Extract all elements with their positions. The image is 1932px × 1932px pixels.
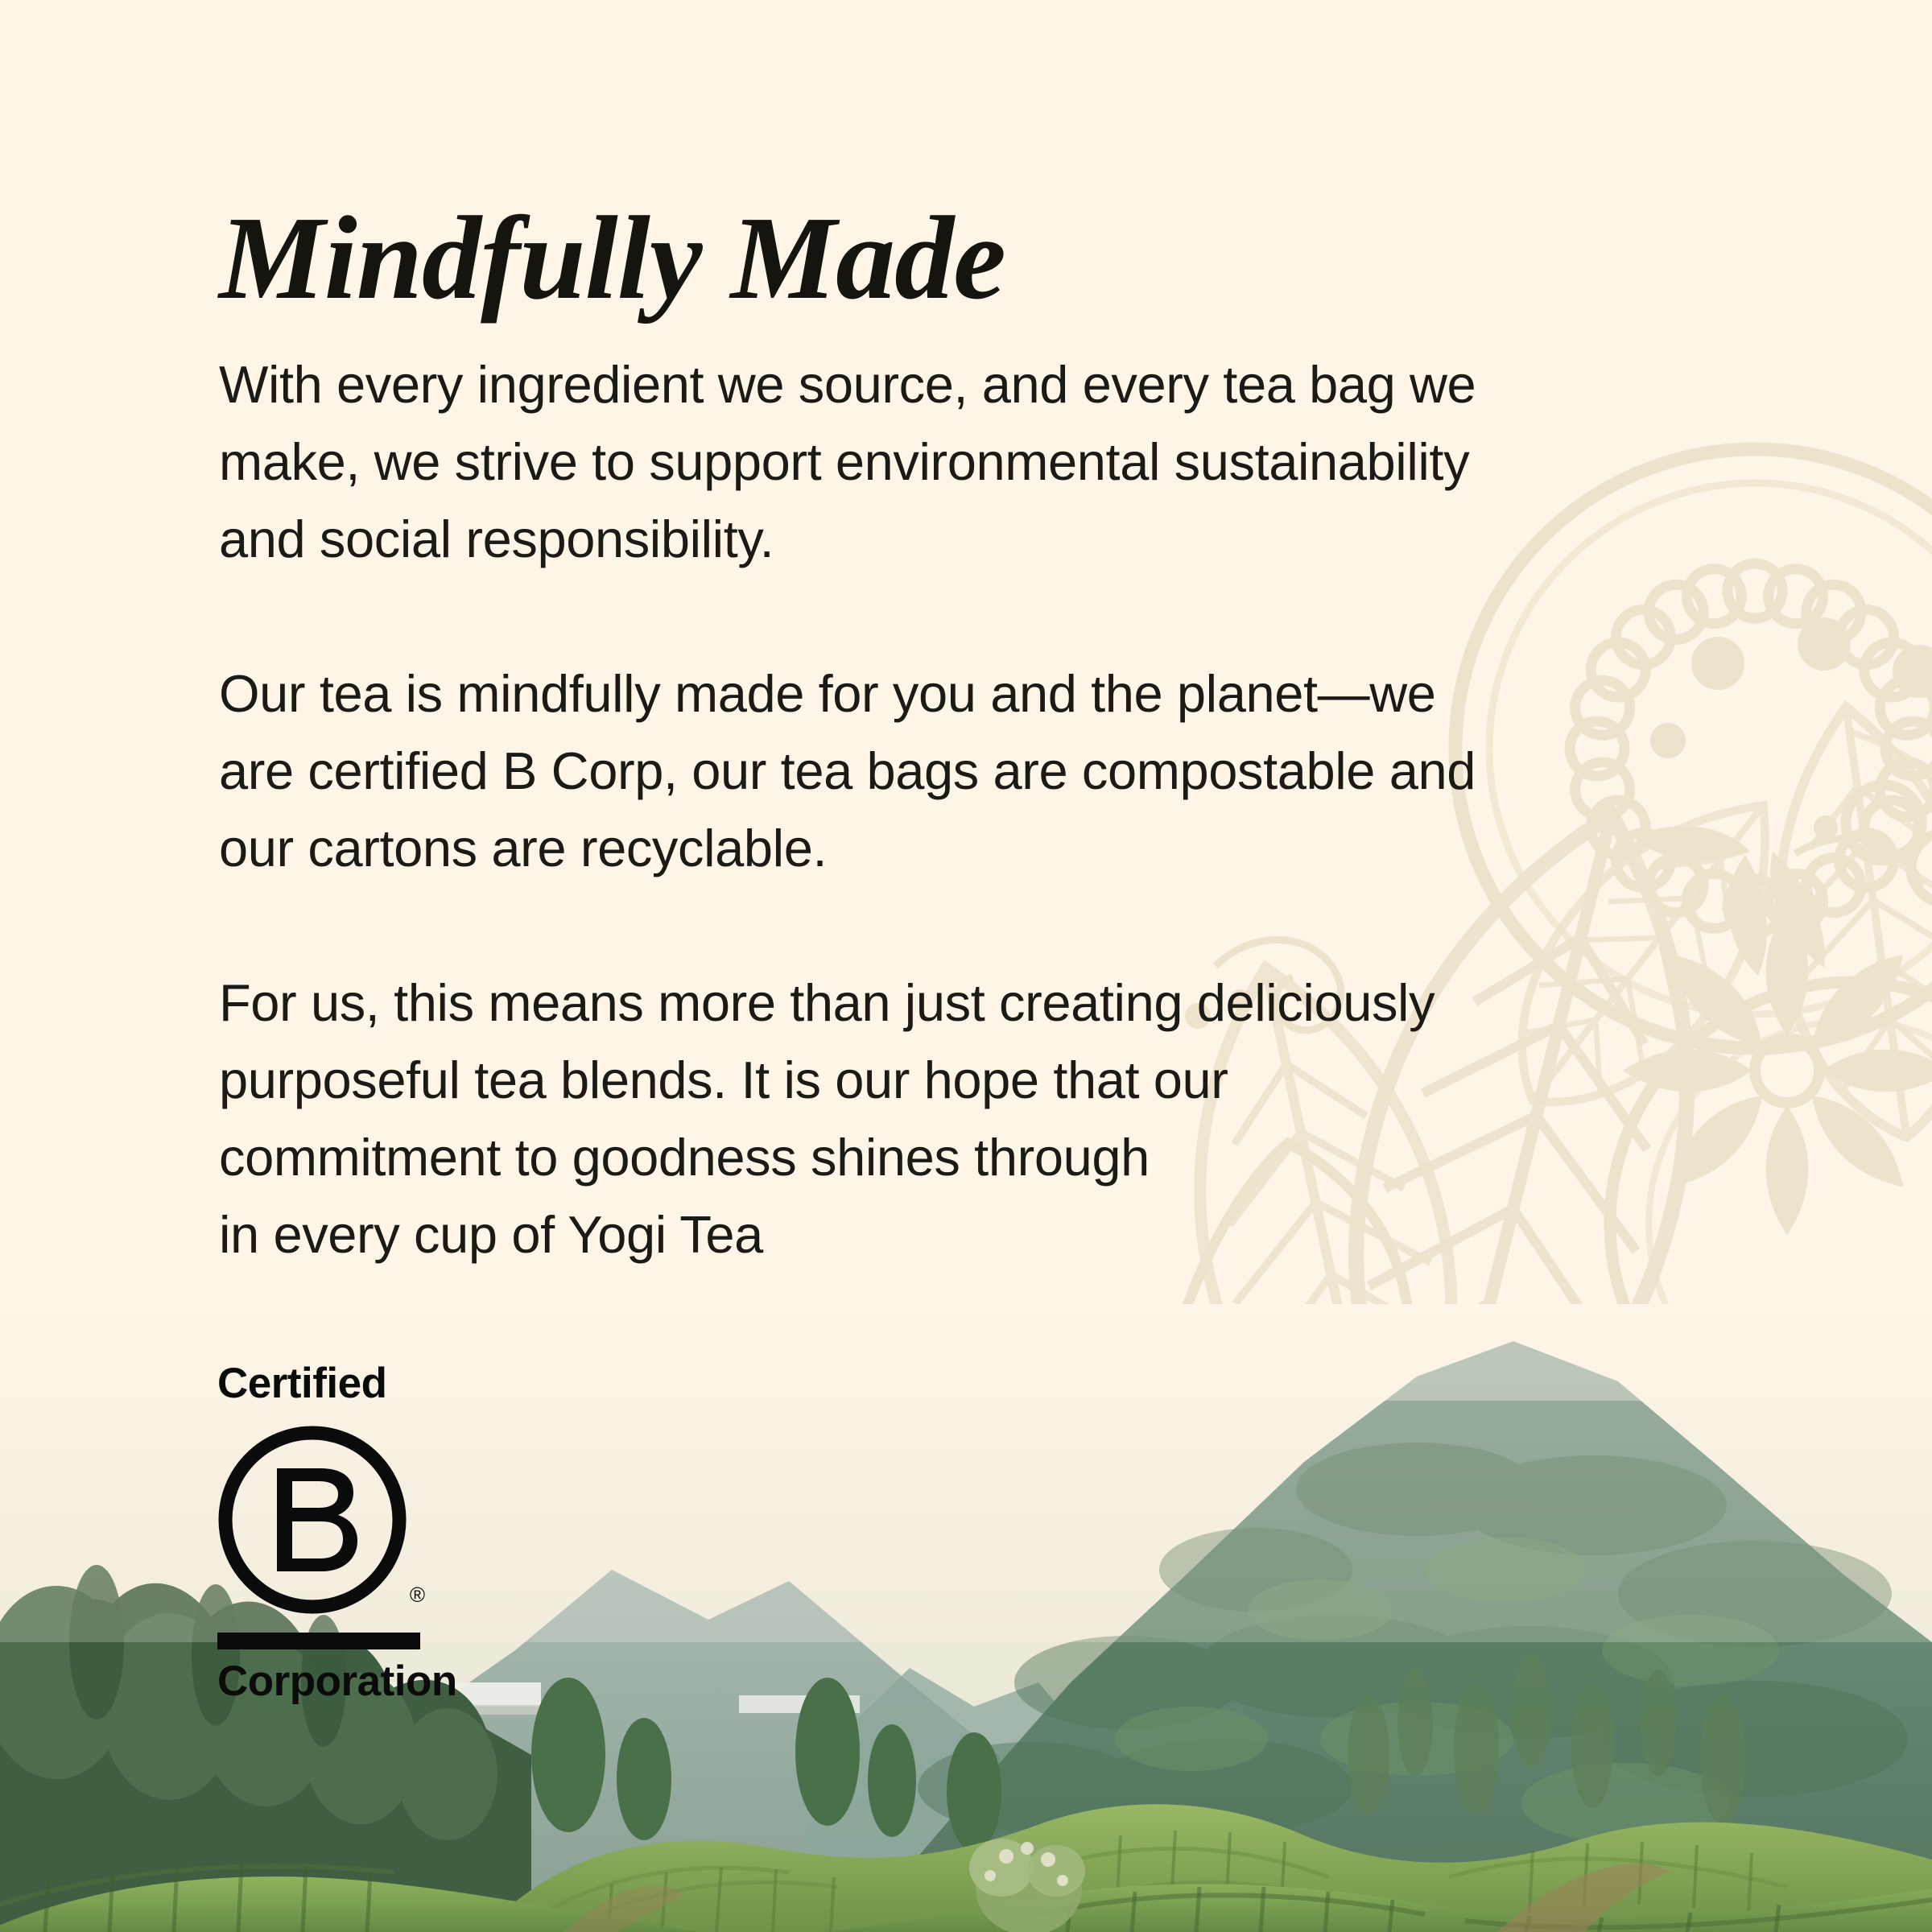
mindfully-made-card: Mindfully Made With every ingredient we … (0, 0, 1932, 1932)
paragraph-2: Our tea is mindfully made for you and th… (219, 655, 1732, 887)
bcorp-b-mark: ® (217, 1418, 415, 1626)
bcorp-divider-rule (217, 1633, 420, 1649)
page-title: Mindfully Made (219, 199, 1005, 318)
registered-trademark-icon: ® (410, 1584, 425, 1605)
b-in-circle-icon (217, 1418, 415, 1626)
body-copy: With every ingredient we source, and eve… (219, 346, 1732, 1274)
bcorp-certified-label: Certified (217, 1360, 443, 1407)
paragraph-1: With every ingredient we source, and eve… (219, 346, 1732, 578)
paragraph-3: For us, this means more than just creati… (219, 964, 1732, 1274)
leaf-motif-right-edge (1750, 694, 1932, 1150)
b-corp-certification-logo: Certified ® Corporation (217, 1360, 443, 1707)
bcorp-corporation-label: Corporation (217, 1656, 443, 1707)
